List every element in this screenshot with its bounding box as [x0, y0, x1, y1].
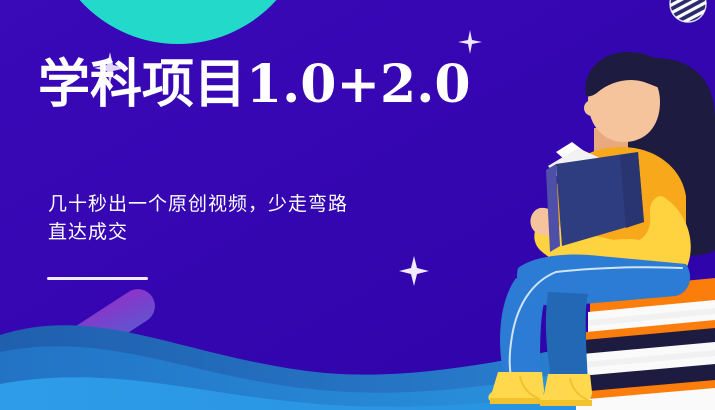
promo-banner: 学科项目1.0+2.0 几十秒出一个原创视频，少走弯路 直达成交 — [0, 0, 715, 410]
ear — [584, 100, 600, 116]
subtitle-line-2: 直达成交 — [48, 218, 488, 246]
banner-title: 学科项目1.0+2.0 — [38, 55, 508, 115]
subtitle-line-1: 几十秒出一个原创视频，少走弯路 — [48, 193, 348, 215]
shoe-front-sole — [490, 398, 544, 404]
shoe-back-sole — [540, 400, 592, 406]
shoe-back — [540, 374, 592, 404]
banner-subtitle: 几十秒出一个原创视频，少走弯路 直达成交 — [48, 190, 488, 246]
jeans-shin-back — [546, 292, 588, 382]
